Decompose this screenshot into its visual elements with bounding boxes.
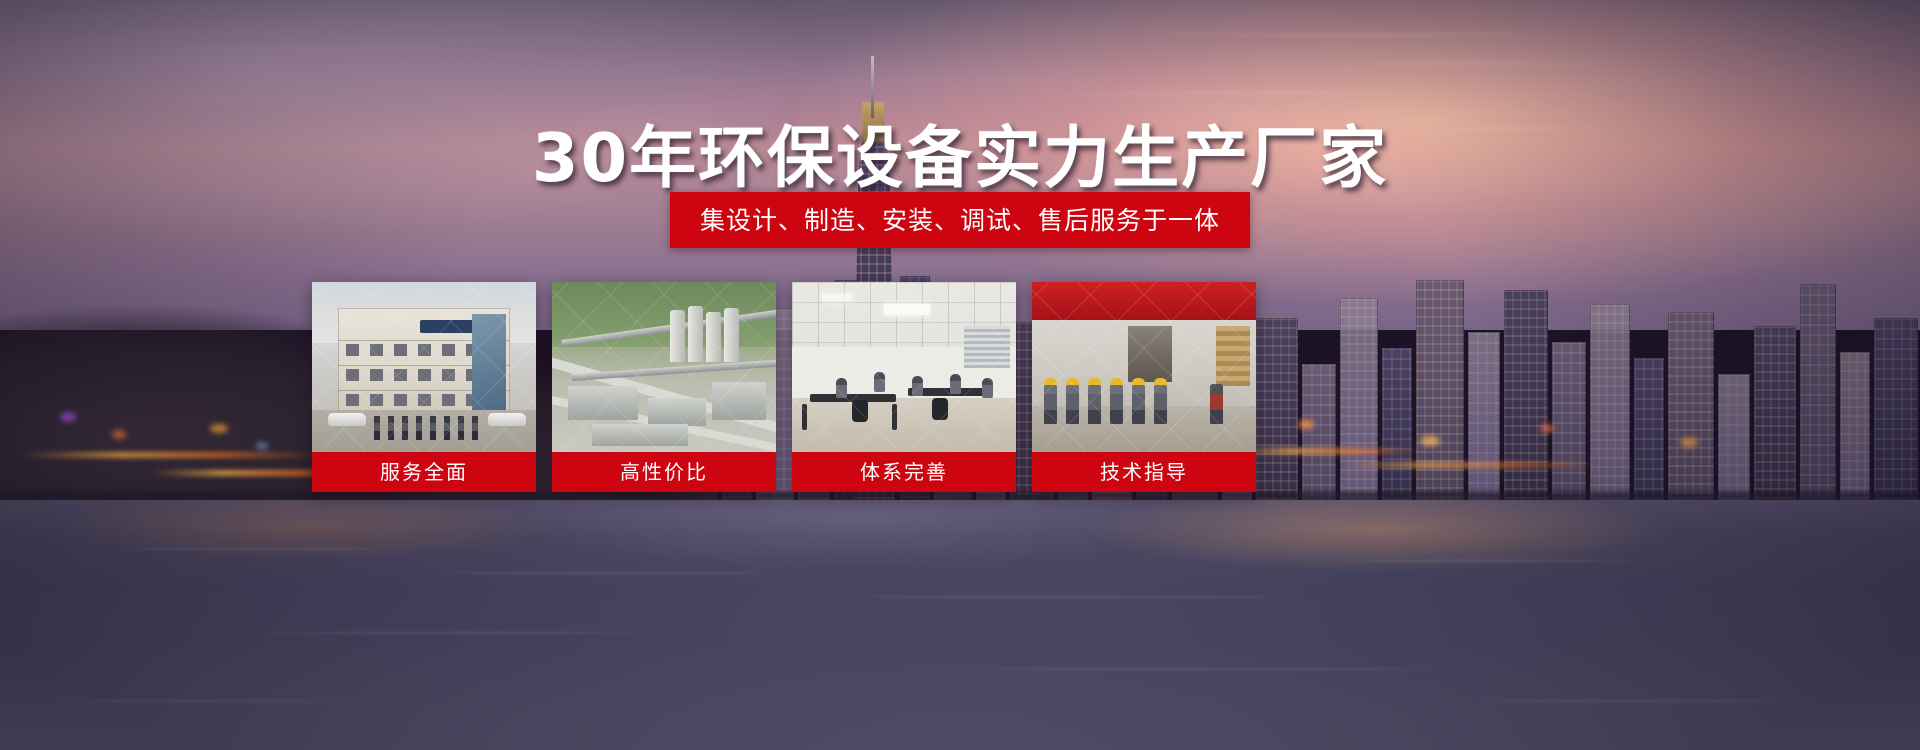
feature-card-row: 服务全面 bbox=[312, 282, 1256, 492]
workshop-workers-photo bbox=[1032, 282, 1256, 452]
aerial-factory-plant-photo bbox=[552, 282, 776, 452]
feature-card-caption: 服务全面 bbox=[312, 452, 536, 492]
feature-card[interactable]: 服务全面 bbox=[312, 282, 536, 492]
staff-office-room-photo bbox=[792, 282, 1016, 452]
feature-card-caption: 高性价比 bbox=[552, 452, 776, 492]
feature-card-caption: 体系完善 bbox=[792, 452, 1016, 492]
feature-card[interactable]: 体系完善 bbox=[792, 282, 1016, 492]
feature-card[interactable]: 技术指导 bbox=[1032, 282, 1256, 492]
hero-banner: 30年环保设备实力生产厂家 集设计、制造、安装、调试、售后服务于一体 bbox=[0, 0, 1920, 750]
page-title: 30年环保设备实力生产厂家 bbox=[0, 104, 1920, 201]
subtitle-banner: 集设计、制造、安装、调试、售后服务于一体 bbox=[670, 192, 1250, 248]
company-office-building-photo bbox=[312, 282, 536, 452]
feature-card[interactable]: 高性价比 bbox=[552, 282, 776, 492]
feature-card-caption: 技术指导 bbox=[1032, 452, 1256, 492]
subtitle-text: 集设计、制造、安装、调试、售后服务于一体 bbox=[700, 201, 1220, 237]
